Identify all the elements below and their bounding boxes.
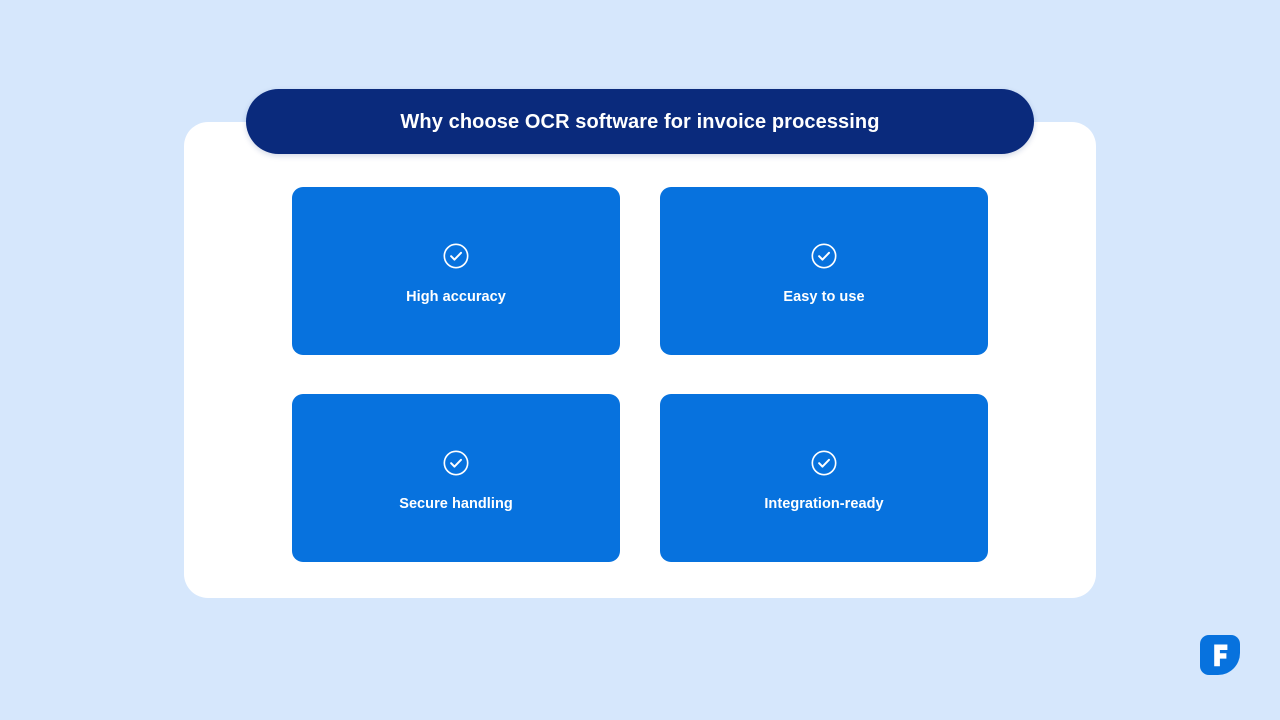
feature-card-label: Easy to use (783, 290, 864, 305)
feature-card-label: Secure handling (399, 497, 513, 512)
feature-card-grid: High accuracy Easy to use Secure handlin… (292, 187, 988, 562)
feature-card-secure-handling[interactable]: Secure handling (292, 394, 620, 562)
brand-logo-icon[interactable] (1200, 635, 1240, 675)
banner-title-text: Why choose OCR software for invoice proc… (400, 112, 879, 132)
check-circle-icon (810, 242, 838, 270)
check-circle-icon (810, 449, 838, 477)
title-banner: Why choose OCR software for invoice proc… (246, 89, 1034, 154)
check-circle-icon (442, 242, 470, 270)
check-circle-icon (442, 449, 470, 477)
feature-card-easy-to-use[interactable]: Easy to use (660, 187, 988, 355)
feature-card-integration-ready[interactable]: Integration-ready (660, 394, 988, 562)
feature-card-label: Integration-ready (764, 497, 883, 512)
feature-card-high-accuracy[interactable]: High accuracy (292, 187, 620, 355)
feature-card-label: High accuracy (406, 290, 506, 305)
slide-canvas: Why choose OCR software for invoice proc… (0, 0, 1280, 720)
